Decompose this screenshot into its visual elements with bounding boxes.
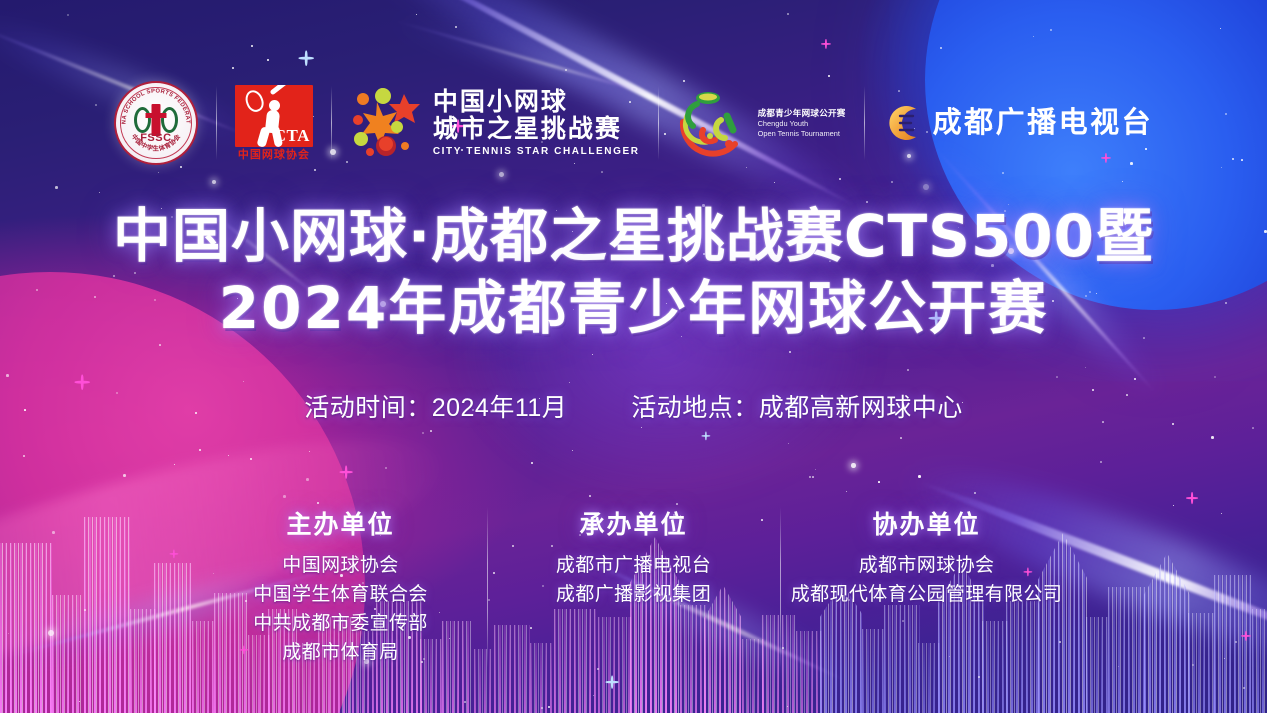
star-icon [1220,28,1221,29]
logo-cdtv: 成都广播电视台 [865,103,1172,143]
star-icon [267,59,269,61]
star-icon [317,502,319,504]
star-icon [174,464,175,465]
star-icon [592,354,593,355]
title-line-1: 中国小网球·成都之星挑战赛CTS500暨 [0,206,1267,266]
unit-item: 成都市广播电视台 [494,552,774,581]
cts-en-line: CITY TENNIS STAR CHALLENGER [433,146,640,157]
unit-item: 成都广播影视集团 [494,581,774,610]
star-icon [243,381,244,382]
star-icon [1033,36,1034,37]
star-icon [1211,436,1214,439]
star-icon [1214,376,1216,378]
star-icon [846,491,847,492]
sparkle-icon [701,431,710,440]
sparkle-icon [605,675,618,688]
star-icon [1134,378,1136,380]
star-icon [464,701,466,703]
star-icon [569,382,570,383]
unit-item: 中共成都市委宣传部 [201,610,481,639]
cta-acronym: CTA [274,126,310,146]
cta-logo-icon: CTA 中国网球协会 [235,85,313,161]
units-column-organizer: 承办单位 成都市广播电视台 成都广播影视集团 [488,505,780,610]
star-icon [641,427,642,428]
star-icon [812,476,814,478]
coyo-en-line2: Open Tennis Tournament [758,129,846,139]
sparkle-icon [74,374,89,389]
star-icon [283,495,286,498]
star-icon [597,668,599,670]
cts-cn-line1: 中国小网球 [433,89,640,116]
star-icon [548,706,550,708]
star-icon [787,706,788,707]
organizing-units-section: 主办单位 中国网球协会 中国学生体育联合会 中共成都市委宣传部 成都市体育局 承… [0,505,1267,668]
units-heading: 协办单位 [787,505,1067,541]
star-icon [416,14,417,15]
coyo-wordmark-icon [677,86,751,160]
event-time: 活动时间：2024年11月 [304,388,567,424]
logo-coyo: 成都青少年网球公开赛 Chengdu Youth Open Tennis Tou… [659,86,864,160]
sparkle-icon [1185,491,1197,503]
star-icon [787,13,789,15]
star-icon [385,467,387,469]
fssc-inner-mark [134,107,178,133]
logo-cts-challenger: 中国小网球 城市之星挑战赛 CITY TENNIS STAR CHALLENGE… [332,86,658,160]
cts-burst-artwork [350,86,424,160]
sponsor-logo-bar: CHINA SCHOOL SPORTS FEDERATION 中国中学生体育协会… [0,72,1267,174]
event-meta-row: 活动时间：2024年11月 活动地点：成都高新网球中心 [0,388,1267,424]
star-icon [23,455,25,457]
star-icon [900,437,902,439]
units-heading: 承办单位 [494,505,774,541]
cts-cn-line2: 城市之星挑战赛 [433,116,640,143]
star-icon [79,701,80,702]
logo-cta: CTA 中国网球协会 [217,85,331,161]
unit-item: 成都市网球协会 [787,552,1067,581]
star-icon [593,695,594,696]
star-icon [1056,376,1058,378]
event-poster: CHINA SCHOOL SPORTS FEDERATION 中国中学生体育协会… [0,0,1267,713]
unit-item: 中国网球协会 [201,552,481,581]
star-icon [250,458,252,460]
unit-item: 成都市体育局 [201,639,481,668]
event-location: 活动地点：成都高新网球中心 [631,388,963,424]
cta-chinese-name: 中国网球协会 [235,150,313,161]
sparkle-icon [339,465,352,478]
star-icon [940,47,942,49]
star-icon [430,430,432,432]
star-icon [67,14,69,16]
star-icon [1243,687,1245,689]
star-icon [1100,461,1102,463]
units-column-host: 主办单位 中国网球协会 中国学生体育联合会 中共成都市委宣传部 成都市体育局 [195,505,487,668]
star-icon [212,180,216,184]
star-icon [1122,181,1123,182]
star-icon [455,26,457,28]
unit-item: 成都现代体育公园管理有限公司 [787,581,1067,610]
star-icon [1252,427,1254,429]
star-icon [891,181,893,183]
star-icon [878,481,880,483]
units-heading: 主办单位 [201,505,481,541]
title-line-2: 2024年成都青少年网球公开赛 [0,278,1267,338]
star-icon [789,351,791,353]
poster-title-block: 中国小网球·成都之星挑战赛CTS500暨 2024年成都青少年网球公开赛 [0,206,1267,339]
star-icon [974,492,976,494]
star-icon [851,463,856,468]
coyo-en-line1: Chengdu Youth [758,119,846,129]
star-icon [572,450,573,451]
star-icon [918,475,921,478]
star-icon [565,69,567,71]
star-icon [159,344,161,346]
star-icon [1050,29,1052,31]
star-icon [306,478,309,481]
star-icon [815,469,816,470]
sparkle-icon [298,50,313,65]
units-column-coorganizer: 协办单位 成都市网球协会 成都现代体育公园管理有限公司 [781,505,1073,610]
star-icon [788,443,789,444]
unit-item: 中国学生体育联合会 [201,581,481,610]
coyo-cn-name: 成都青少年网球公开赛 [758,108,846,119]
star-icon [55,186,58,189]
star-icon [839,178,841,180]
star-icon [199,449,201,451]
star-icon [251,45,253,47]
star-icon [99,192,100,193]
star-icon [232,67,234,69]
sparkle-icon [821,39,831,49]
star-icon [309,451,310,452]
logo-fssc: CHINA SCHOOL SPORTS FEDERATION 中国中学生体育协会… [96,81,216,165]
star-icon [1085,367,1086,368]
star-icon [978,676,980,678]
fssc-emblem-icon: CHINA SCHOOL SPORTS FEDERATION 中国中学生体育协会… [114,81,198,165]
crescent-icon [883,103,923,143]
star-icon [923,184,929,190]
fssc-acronym: FSSC [116,132,196,144]
star-icon [123,474,126,477]
star-icon [228,455,229,456]
star-icon [589,495,591,497]
star-icon [541,707,543,709]
star-icon [422,432,424,434]
star-icon [774,182,775,183]
star-icon [6,374,9,377]
star-icon [531,462,533,464]
cdtv-name: 成都广播电视台 [933,109,1154,138]
star-icon [907,369,909,371]
